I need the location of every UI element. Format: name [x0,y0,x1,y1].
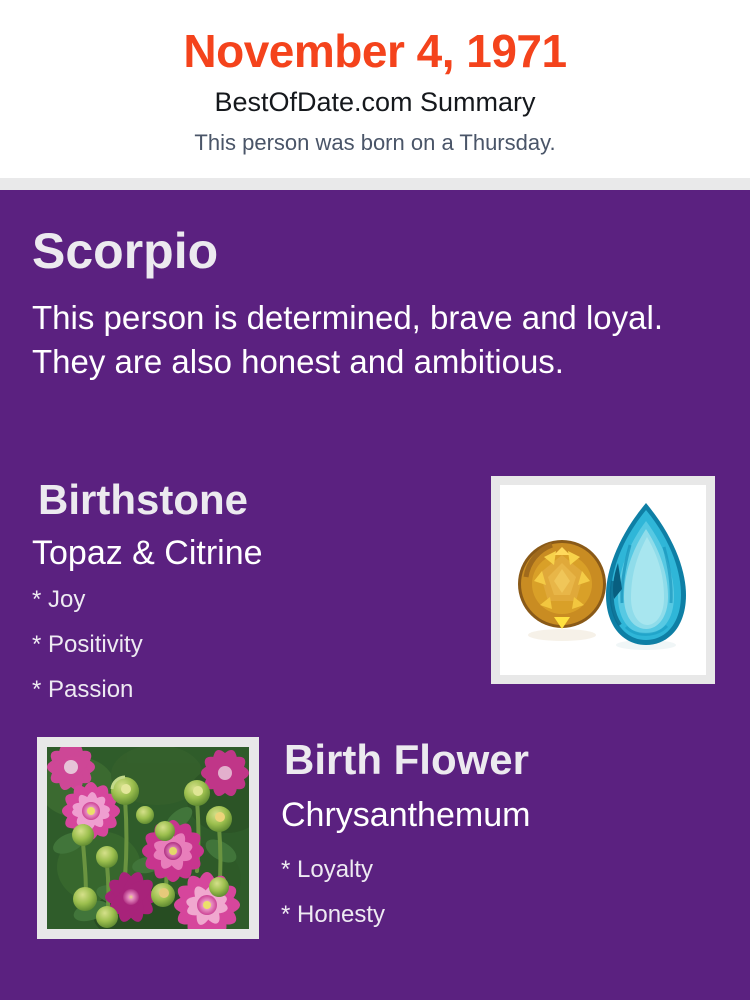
birth-flower-name: Chrysanthemum [281,797,530,834]
chrysanthemum-illustration [47,747,249,929]
list-item: * Passion [32,678,143,702]
birth-weekday-tagline: This person was born on a Thursday. [0,131,750,155]
birth-flower-trait-list: * Loyalty * Honesty [281,858,385,948]
list-item: * Loyalty [281,858,385,882]
gemstones-illustration [500,485,706,675]
birthstone-heading: Birthstone [38,478,248,522]
page-root: November 4, 1971 BestOfDate.com Summary … [0,0,750,1000]
birthstone-image [500,485,706,675]
page-title: November 4, 1971 [0,26,750,77]
birthstone-image-frame [491,476,715,684]
birth-flower-heading: Birth Flower [284,738,529,782]
zodiac-description: This person is determined, brave and loy… [32,296,702,383]
list-item: * Honesty [281,903,385,927]
list-item: * Positivity [32,633,143,657]
page-header: November 4, 1971 BestOfDate.com Summary … [0,0,750,178]
zodiac-sign-name: Scorpio [32,225,218,278]
birthstone-name: Topaz & Citrine [32,535,263,572]
birth-flower-image-frame [37,737,259,939]
birth-flower-image [47,747,249,929]
site-summary-subtitle: BestOfDate.com Summary [0,88,750,118]
header-divider [0,178,750,190]
birthstone-trait-list: * Joy * Positivity * Passion [32,588,143,723]
list-item: * Joy [32,588,143,612]
